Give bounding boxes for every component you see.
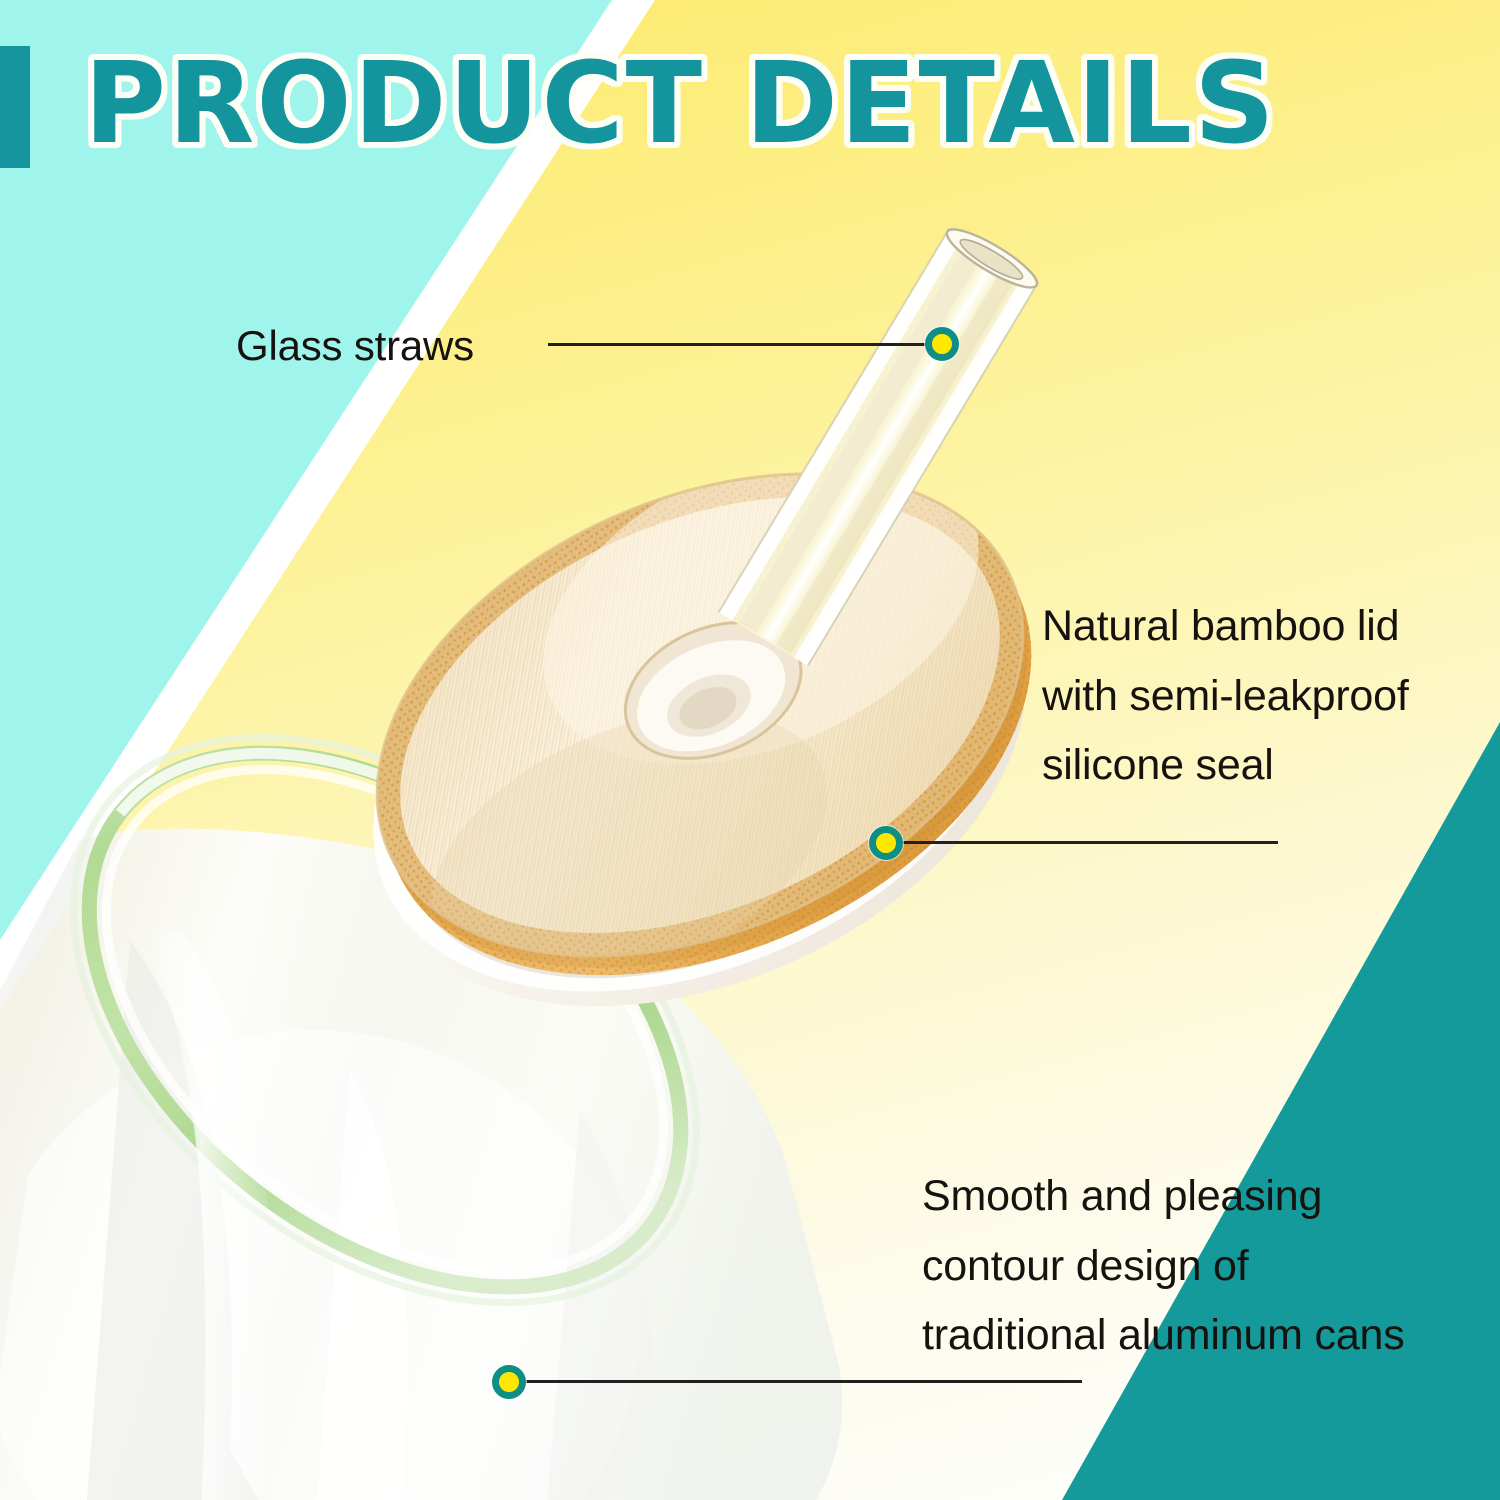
product-details-infographic: PRODUCT DETAILS Glass straws Natural bam… — [0, 0, 1500, 1500]
callout-dot-glass-straws[interactable] — [925, 327, 959, 361]
callout-leader-line-contour-design — [522, 1380, 1082, 1383]
callout-label-contour-design: Smooth and pleasing contour design of tr… — [922, 1162, 1405, 1371]
callout-leader-line-bamboo-lid — [900, 841, 1278, 844]
title-accent-bar — [0, 46, 30, 168]
callout-label-glass-straws: Glass straws — [236, 312, 474, 380]
callout-dot-contour-design[interactable] — [492, 1365, 526, 1399]
callout-label-bamboo-lid: Natural bamboo lid with semi-leakproof s… — [1042, 592, 1409, 801]
callout-dot-bamboo-lid[interactable] — [869, 826, 903, 860]
callout-leader-line-glass-straws — [548, 343, 938, 346]
page-title: PRODUCT DETAILS — [84, 42, 1277, 167]
